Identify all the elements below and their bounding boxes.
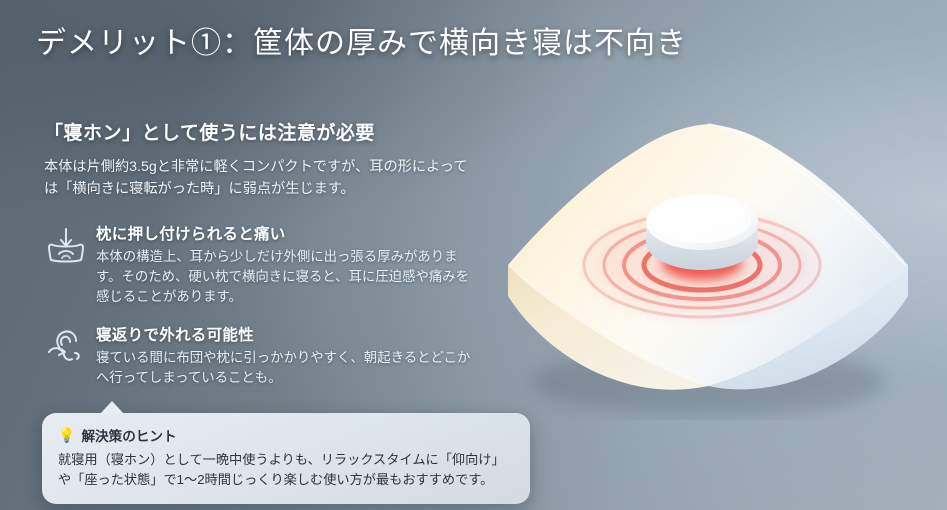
- solution-hint-card: 💡 解決策のヒント 就寝用（寝ホン）として一晩中使うよりも、リラックスタイムに「…: [42, 413, 530, 504]
- hint-heading: 解決策のヒント: [81, 425, 176, 445]
- hint-header: 💡 解決策のヒント: [58, 425, 514, 445]
- list-item: 寝返りで外れる可能性 寝ている間に布団や枕に引っかかりやすく、朝起きるとどこかへ…: [44, 323, 494, 388]
- slide-canvas: デメリット①：筐体の厚みで横向き寝は不向き: [0, 0, 947, 510]
- lightbulb-icon: 💡: [58, 428, 75, 442]
- list-item-desc: 本体の構造上、耳から少しだけ外側に出っ張る厚みがあります。そのため、硬い枕で横向…: [96, 247, 478, 307]
- list-item-title: 寝返りで外れる可能性: [96, 323, 494, 345]
- drawback-list: 枕に押し付けられると痛い 本体の構造上、耳から少しだけ外側に出っ張る厚みがありま…: [44, 222, 494, 389]
- ear-slip-icon: [44, 327, 88, 369]
- pillow-pressure-icon: [44, 226, 88, 268]
- list-item: 枕に押し付けられると痛い 本体の構造上、耳から少しだけ外側に出っ張る厚みがありま…: [44, 222, 494, 307]
- left-content-column: 「寝ホン」として使うには注意が必要 本体は片側約3.5gと非常に軽くコンパクトで…: [44, 118, 494, 405]
- hint-body: 就寝用（寝ホン）として一晩中使うよりも、リラックスタイムに「仰向け」や「座った状…: [58, 450, 514, 491]
- lead-heading: 「寝ホン」として使うには注意が必要: [44, 118, 494, 145]
- list-item-desc: 寝ている間に布団や枕に引っかかりやすく、朝起きるとどこかへ行ってしまっていること…: [96, 348, 478, 388]
- page-title: デメリット①：筐体の厚みで横向き寝は不向き: [36, 18, 687, 62]
- lead-body: 本体は片側約3.5gと非常に軽くコンパクトですが、耳の形によっては「横向きに寝転…: [44, 156, 474, 200]
- pillow-illustration: [470, 110, 947, 420]
- list-item-title: 枕に押し付けられると痛い: [96, 222, 494, 244]
